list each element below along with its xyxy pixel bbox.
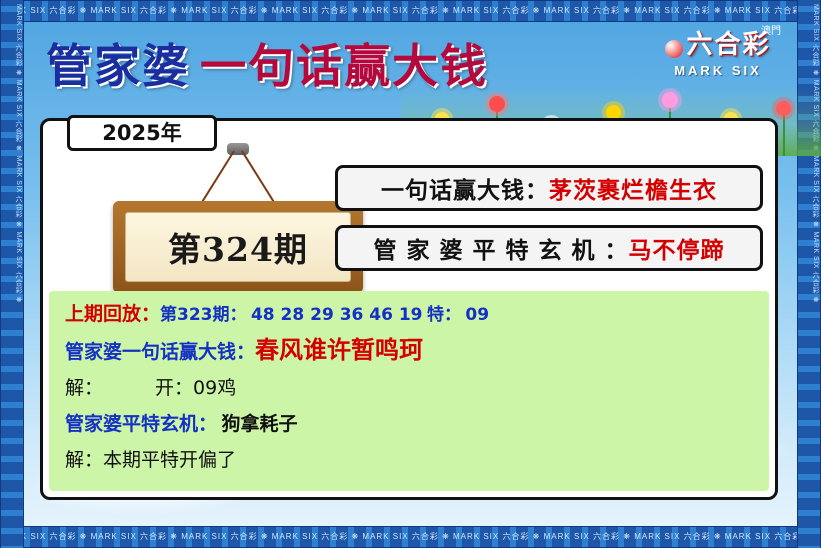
review-issue: 第323期： <box>160 305 247 325</box>
flower-stem <box>783 112 785 156</box>
headline-box-phrase: 一句话赢大钱：茅茨裹烂檐生衣 <box>335 165 763 211</box>
phrase-value: 春风谁许暂鸣珂 <box>255 336 423 364</box>
answer-label: 解： <box>65 377 103 399</box>
poster-root: MARK SIX 六合彩 ❋ MARK SIX 六合彩 ❋ MARK SIX 六… <box>0 0 821 548</box>
headline-phrase-label: 一句话赢大钱： <box>381 171 549 205</box>
phrase-row: 管家婆一句话赢大钱：春风谁许暂鸣珂 <box>65 337 753 367</box>
answer-open-label: 开： <box>155 377 193 399</box>
headline-phrase-value: 茅茨裹烂檐生衣 <box>549 171 717 205</box>
hanging-sign: 第324期 <box>113 143 363 313</box>
headline-riddle-value: 马不停蹄 <box>629 231 725 265</box>
sign-board-inner: 第324期 <box>125 212 351 282</box>
flower-head-icon <box>489 96 505 112</box>
result-value: 本期平特开偏了 <box>103 449 236 471</box>
riddle-label: 管家婆平特玄机： <box>65 413 217 435</box>
bottom-marquee-band: MARK SIX 六合彩 ❋ MARK SIX 六合彩 ❋ MARK SIX 六… <box>0 526 821 548</box>
result-label: 解： <box>65 449 103 471</box>
review-row: 上期回放：第323期： 48 28 29 36 46 19 特： 09 <box>65 301 753 329</box>
riddle-row: 管家婆平特玄机： 狗拿耗子 <box>65 411 753 439</box>
lottery-ball-icon <box>665 40 683 58</box>
mark-six-logo: 澳門 六合彩 MARK SIX <box>653 24 783 86</box>
phrase-label: 管家婆一句话赢大钱： <box>65 341 255 363</box>
main-title-part1: 管家婆 <box>46 39 190 93</box>
left-marquee-band: MARK SIX 六合彩 ❋ MARK SIX 六合彩 ❋ MARK SIX 六… <box>0 0 24 548</box>
review-title: 上期回放： <box>65 303 160 325</box>
headline-box-riddle: 管 家 婆 平 特 玄 机 ：马不停蹄 <box>335 225 763 271</box>
sign-rope-right <box>241 150 276 204</box>
logo-cn-name: 六合彩 <box>686 29 770 59</box>
answer-open-value: 09鸡 <box>193 377 236 399</box>
right-marquee-band: MARK SIX 六合彩 ❋ MARK SIX 六合彩 ❋ MARK SIX 六… <box>797 0 821 548</box>
answer-row: 解：开：09鸡 <box>65 375 753 403</box>
logo-region-label: 澳門 <box>761 22 781 37</box>
riddle-value: 狗拿耗子 <box>221 413 297 435</box>
review-special-label: 特： <box>427 305 461 325</box>
sign-board: 第324期 <box>113 201 363 293</box>
previous-results-block: 上期回放：第323期： 48 28 29 36 46 19 特： 09 管家婆一… <box>49 291 769 491</box>
sign-rope-left <box>200 150 235 204</box>
headline-riddle-label: 管 家 婆 平 特 玄 机 ： <box>373 231 628 265</box>
logo-en-name: MARK SIX <box>653 63 783 78</box>
issue-number-label: 第324期 <box>168 223 308 271</box>
result-row: 解：本期平特开偏了 <box>65 447 753 475</box>
review-special-number: 09 <box>465 305 489 325</box>
flower-head-icon <box>662 92 678 108</box>
content-panel: 2025年 第324期 一句话赢大钱：茅茨裹烂檐生衣 管 家 婆 平 特 玄 机… <box>40 118 778 500</box>
main-title-part2: 一句话赢大钱 <box>200 39 488 93</box>
top-marquee-band: MARK SIX 六合彩 ❋ MARK SIX 六合彩 ❋ MARK SIX 六… <box>0 0 821 22</box>
review-numbers: 48 28 29 36 46 19 <box>251 305 423 325</box>
flower-head-icon <box>776 101 791 116</box>
